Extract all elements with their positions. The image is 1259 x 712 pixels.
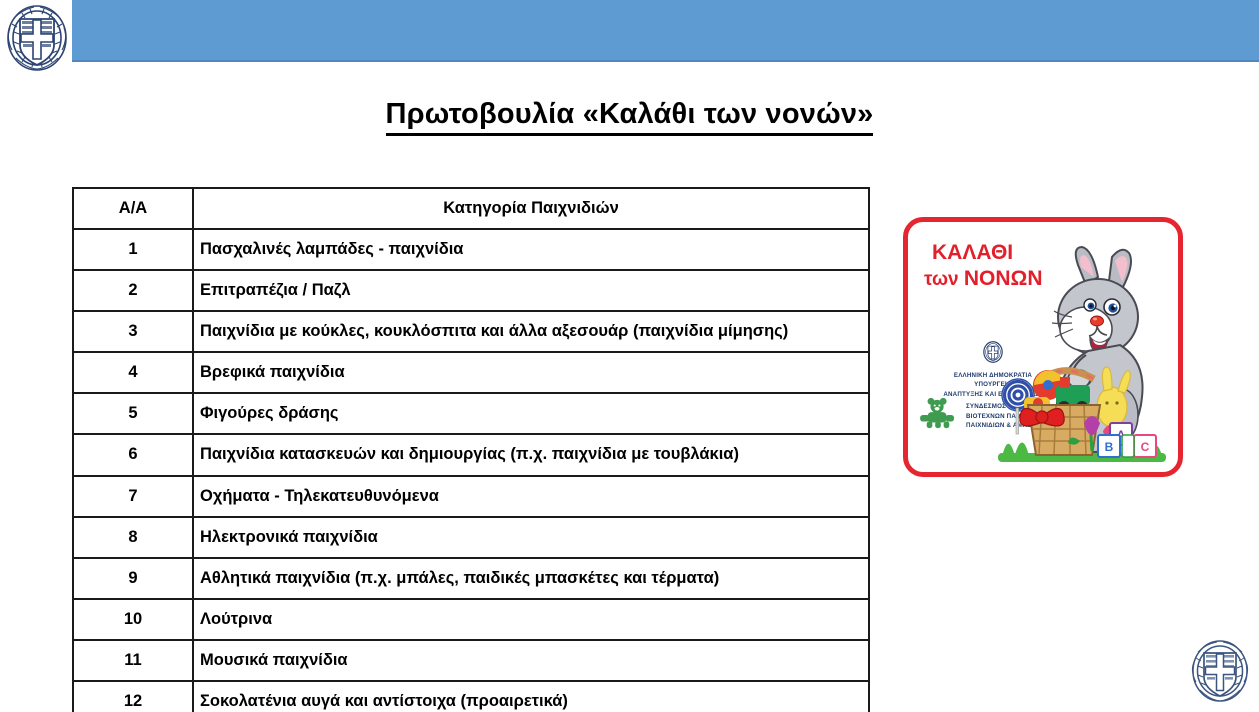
row-category: Βρεφικά παιχνίδια [193, 352, 869, 393]
table-header-row: Α/Α Κατηγορία Παιχνιδιών [73, 188, 869, 229]
row-index: 2 [73, 270, 193, 311]
kalathi-ton-nonon-logo-card: ΚΑΛΑΘΙ των ΝΟΝΩΝ ΕΛΛΗΝΙΚΗ ΔΗΜΟΚΡΑΤΙΑ ΥΠΟ… [903, 217, 1183, 477]
column-header-category: Κατηγορία Παιχνιδιών [193, 188, 869, 229]
svg-text:C: C [1141, 440, 1150, 454]
greek-coat-of-arms-icon [4, 2, 70, 74]
row-index: 9 [73, 558, 193, 599]
category-table-wrapper: Α/Α Κατηγορία Παιχνιδιών 1 Πασχαλινές λα… [72, 187, 868, 712]
row-index: 3 [73, 311, 193, 352]
table-row: 9 Αθλητικά παιχνίδια (π.χ. μπάλες, παιδι… [73, 558, 869, 599]
row-index: 8 [73, 517, 193, 558]
svg-text:B: B [1105, 440, 1114, 454]
slide: Πρωτοβουλία «Καλάθι των νονών» Α/Α Κατηγ… [0, 0, 1259, 712]
row-category: Αθλητικά παιχνίδια (π.χ. μπάλες, παιδικέ… [193, 558, 869, 599]
table-row: 5 Φιγούρες δράσης [73, 393, 869, 434]
column-header-index: Α/Α [73, 188, 193, 229]
row-category: Οχήματα - Τηλεκατευθυνόμενα [193, 476, 869, 517]
table-row: 11 Μουσικά παιχνίδια [73, 640, 869, 681]
table-row: 3 Παιχνίδια με κούκλες, κουκλόσπιτα και … [73, 311, 869, 352]
row-index: 7 [73, 476, 193, 517]
table-row: 2 Επιτραπέζια / Παζλ [73, 270, 869, 311]
row-category: Ηλεκτρονικά παιχνίδια [193, 517, 869, 558]
row-category: Παιχνίδια με κούκλες, κουκλόσπιτα και άλ… [193, 311, 869, 352]
row-category: Σοκολατένια αυγά και αντίστοιχα (προαιρε… [193, 681, 869, 712]
greek-coat-of-arms-icon [1189, 637, 1251, 705]
table-row: 10 Λούτρινα [73, 599, 869, 640]
teddy-bear-icon [916, 398, 960, 435]
row-index: 1 [73, 229, 193, 270]
page-title-text: Πρωτοβουλία «Καλάθι των νονών» [386, 98, 874, 136]
table-row: 6 Παιχνίδια κατασκευών και δημιουργίας (… [73, 434, 869, 475]
page-title: Πρωτοβουλία «Καλάθι των νονών» [0, 98, 1259, 131]
row-index: 12 [73, 681, 193, 712]
table-row: 1 Πασχαλινές λαμπάδες - παιχνίδια [73, 229, 869, 270]
row-index: 4 [73, 352, 193, 393]
row-category: Λούτρινα [193, 599, 869, 640]
table-row: 8 Ηλεκτρονικά παιχνίδια [73, 517, 869, 558]
table-row: 7 Οχήματα - Τηλεκατευθυνόμενα [73, 476, 869, 517]
logo-title-line2-prefix: των [924, 269, 964, 290]
table-row: 4 Βρεφικά παιχνίδια [73, 352, 869, 393]
row-category: Φιγούρες δράσης [193, 393, 869, 434]
header-band [72, 0, 1259, 62]
row-index: 6 [73, 434, 193, 475]
row-index: 10 [73, 599, 193, 640]
row-category: Επιτραπέζια / Παζλ [193, 270, 869, 311]
row-category: Μουσικά παιχνίδια [193, 640, 869, 681]
table-row: 12 Σοκολατένια αυγά και αντίστοιχα (προα… [73, 681, 869, 712]
row-index: 5 [73, 393, 193, 434]
row-index: 11 [73, 640, 193, 681]
easter-bunny-with-toy-basket-illustration: A B C [994, 245, 1174, 470]
table-body: 1 Πασχαλινές λαμπάδες - παιχνίδια 2 Επιτ… [73, 229, 869, 712]
category-table: Α/Α Κατηγορία Παιχνιδιών 1 Πασχαλινές λα… [72, 187, 870, 712]
row-category: Πασχαλινές λαμπάδες - παιχνίδια [193, 229, 869, 270]
row-category: Παιχνίδια κατασκευών και δημιουργίας (π.… [193, 434, 869, 475]
